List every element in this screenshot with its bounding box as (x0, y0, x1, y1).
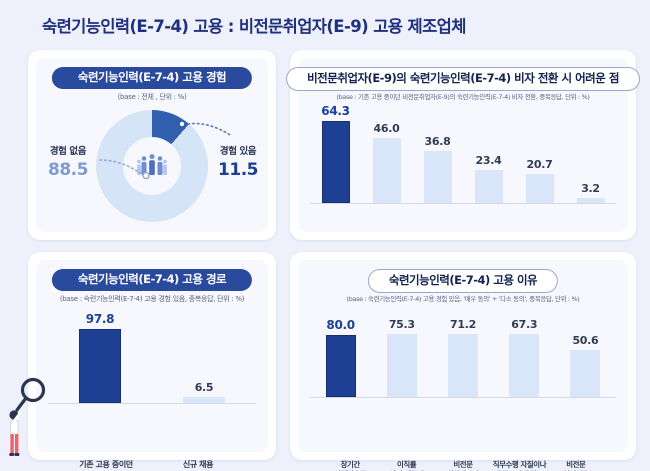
panel-hire-reason-inner: 숙련기능인력(E-7-4) 고용 이유 (base : 숙련기능인력(E-7-4… (298, 260, 628, 452)
donut-label-no-experience-name: 경험 없음 (48, 146, 88, 158)
hire-reason-bar-chart: 80.075.371.267.350.6 장기간 안정적으로 고용할 수 있어서… (310, 318, 616, 463)
hire-route-bars: 97.86.5 (48, 312, 256, 404)
bar-column: 23.4 (463, 104, 514, 203)
donut-label-no-experience: 경험 없음 88.5 (48, 146, 88, 181)
bar-value-label: 64.3 (321, 104, 349, 118)
hire-reason-bars: 80.075.371.267.350.6 (310, 318, 616, 398)
bar-rect (183, 397, 225, 403)
panel-hire-experience-caption: (base : 전체 , 단위 : %) (36, 92, 268, 102)
bar-value-label: 97.8 (86, 312, 114, 326)
bar-column: 97.8 (48, 312, 152, 403)
people-group-icon (135, 153, 169, 179)
axis-category-label: 직무수행 자질이나 근로조건에 맞는 내국인을 구할 수 없어서 (491, 460, 547, 471)
panel-hire-route-inner: 숙련기능인력(E-7-4) 고용 경로 (base : 숙련기능인력(E-7-4… (36, 260, 268, 452)
bar-column: 20.7 (514, 104, 565, 203)
panel-hire-experience-inner: 숙련기능인력(E-7-4) 고용 경험 (base : 전체 , 단위 : %) (36, 58, 268, 232)
donut-label-no-experience-value: 88.5 (48, 160, 88, 181)
bar-column: 50.6 (555, 318, 616, 397)
panel-hire-reason: 숙련기능인력(E-7-4) 고용 이유 (base : 숙련기능인력(E-7-4… (290, 252, 636, 460)
axis-category-label: 비전문 취업자보다 업무 숙련도가 높아서 (435, 460, 491, 471)
infographic-board: 숙련기능인력(E-7-4) 고용 경험 (base : 전체 , 단위 : %) (28, 50, 636, 460)
bar-column: 6.5 (152, 312, 256, 403)
bar-rect (475, 170, 503, 203)
bar-rect (570, 350, 600, 397)
bar-rect (373, 138, 401, 203)
hire-reason-axis-labels: 장기간 안정적으로 고용할 수 있어서이직률 낮기 때문에비전문 취업자보다 업… (322, 460, 604, 471)
bar-column: 46.0 (361, 104, 412, 203)
bar-value-label: 50.6 (572, 334, 598, 347)
axis-category-label: 기존 고용 중이던 비전문취업자의 숙련기능인력 비자 전환 (60, 460, 152, 471)
axis-category-label: 신규 채용 (152, 460, 244, 471)
bar-value-label: 80.0 (326, 318, 354, 332)
bar-value-label: 36.8 (425, 135, 451, 148)
panel-hire-route-caption: (base : 숙련기능인력(E-7-4) 고용 경험 있음, 중복응답, 단위… (36, 294, 268, 304)
panel-hire-reason-caption: (base : 숙련기능인력(E-7-4) 고용 경험 있음, '매우 동의' … (298, 294, 628, 303)
donut-center (123, 137, 181, 195)
bar-value-label: 67.3 (511, 318, 537, 331)
panel-hire-experience: 숙련기능인력(E-7-4) 고용 경험 (base : 전체 , 단위 : %) (28, 50, 276, 240)
bar-rect (577, 198, 605, 203)
bar-rect (509, 334, 539, 397)
donut-label-has-experience: 경험 있음 11.5 (218, 146, 258, 181)
bar-rect (387, 334, 417, 397)
panel-visa-difficulty-heading: 비전문취업자(E-9)의 숙련기능인력(E-7-4) 비자 전환 시 어려운 점 (286, 67, 640, 91)
axis-category-label: 이직률 낮기 때문에 (378, 460, 434, 471)
bar-value-label: 3.2 (581, 182, 600, 195)
donut-label-has-experience-name: 경험 있음 (218, 146, 258, 158)
bar-rect (526, 174, 554, 203)
bar-value-label: 75.3 (389, 318, 415, 331)
bar-rect (424, 151, 452, 203)
bar-value-label: 6.5 (195, 381, 214, 394)
bar-column: 71.2 (432, 318, 493, 397)
panel-visa-difficulty-inner: 비전문취업자(E-9)의 숙련기능인력(E-7-4) 비자 전환 시 어려운 점… (298, 58, 628, 232)
bar-column: 64.3 (310, 104, 361, 203)
panel-visa-difficulty-caption: (base : 기존 고용 중이던 비전문취업자(E-9)의 숙련기능인력(E-… (298, 92, 628, 101)
panel-hire-reason-heading: 숙련기능인력(E-7-4) 고용 이유 (368, 269, 558, 293)
axis-category-label: 장기간 안정적으로 고용할 수 있어서 (322, 460, 378, 471)
bar-rect (326, 335, 356, 397)
visa-difficulty-bars: 64.346.036.823.420.73.2 (310, 104, 616, 204)
bar-column: 67.3 (494, 318, 555, 397)
panel-hire-route-heading: 숙련기능인력(E-7-4) 고용 경로 (52, 269, 252, 291)
bar-value-label: 71.2 (450, 318, 476, 331)
hire-experience-donut-chart (96, 110, 208, 222)
hire-route-axis-labels: 기존 고용 중이던 비전문취업자의 숙련기능인력 비자 전환신규 채용 (60, 460, 244, 471)
panel-hire-route: 숙련기능인력(E-7-4) 고용 경로 (base : 숙련기능인력(E-7-4… (28, 252, 276, 460)
visa-difficulty-bar-chart: 64.346.036.823.420.73.2 근속기간 요건한국어 능력 요건… (310, 104, 616, 244)
page-title: 숙련기능인력(E-7-4) 고용 : 비전문취업자(E-9) 고용 제조업체 (42, 13, 466, 37)
bar-rect (448, 334, 478, 397)
panel-visa-difficulty: 비전문취업자(E-9)의 숙련기능인력(E-7-4) 비자 전환 시 어려운 점… (290, 50, 636, 240)
axis-category-label: 비전문 취업자를 추가 배정받기 어려워서 (548, 460, 604, 471)
bar-rect (79, 329, 121, 403)
bar-rect (322, 121, 350, 203)
bar-column: 80.0 (310, 318, 371, 397)
bar-column: 3.2 (565, 104, 616, 203)
bar-column: 36.8 (412, 104, 463, 203)
bar-value-label: 46.0 (374, 122, 400, 135)
bar-column: 75.3 (371, 318, 432, 397)
hire-route-bar-chart: 97.86.5 기존 고용 중이던 비전문취업자의 숙련기능인력 비자 전환신규… (48, 312, 256, 462)
donut-label-has-experience-value: 11.5 (218, 160, 258, 181)
panel-hire-experience-heading: 숙련기능인력(E-7-4) 고용 경험 (52, 67, 252, 89)
bar-value-label: 20.7 (527, 158, 553, 171)
person-with-magnifier-icon (2, 368, 48, 464)
bar-value-label: 23.4 (476, 154, 502, 167)
